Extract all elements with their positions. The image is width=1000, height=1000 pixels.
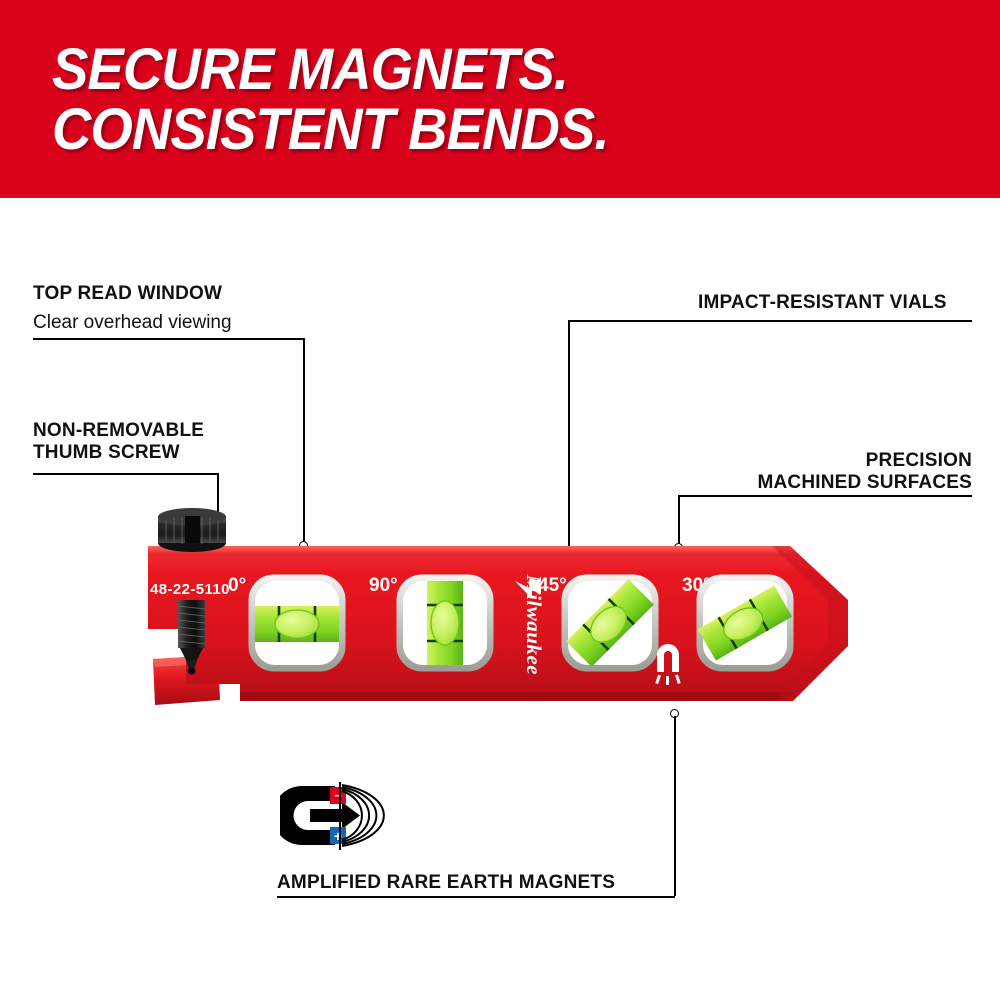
- vial-angle-label-90: 90°: [369, 575, 398, 596]
- torpedo-level-illustration: 48-22-5110 0° 90° Milwaukee: [0, 0, 1000, 1000]
- amplified-magnet-field-diagram: − +: [280, 778, 415, 853]
- magnet-north-pole-label: −: [334, 788, 342, 803]
- vial-angle-label-45: 45°: [538, 575, 567, 596]
- model-number-label: 48-22-5110: [150, 581, 230, 598]
- magnet-force-arrow-icon: [310, 802, 360, 829]
- vial-angle-label-0: 0°: [228, 575, 246, 596]
- infographic-stage: SECURE MAGNETS. CONSISTENT BENDS. TOP RE…: [0, 0, 1000, 1000]
- vial-window-30-degrees: 30°: [682, 575, 792, 668]
